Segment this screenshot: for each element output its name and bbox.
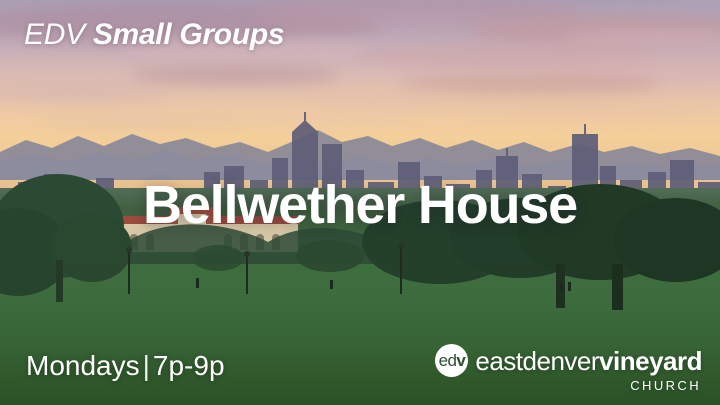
eyebrow-title: EDV Small Groups xyxy=(24,17,284,53)
wordmark-bold-text: vineyard xyxy=(599,346,702,376)
page-title: Bellwether House xyxy=(0,176,720,234)
cloud-band xyxy=(400,74,660,94)
schedule-day: Mondays xyxy=(26,350,140,381)
eyebrow-bold-text: Small Groups xyxy=(93,18,284,51)
badge-light-text: ed xyxy=(439,351,457,370)
cloud-band xyxy=(0,86,170,102)
edv-circle-logo-icon: edv xyxy=(435,344,468,377)
badge-label: edv xyxy=(439,352,466,369)
badge-bold-text: v xyxy=(456,351,465,370)
cloud-band xyxy=(300,92,480,106)
logo-wordmark: eastdenvervineyard xyxy=(475,347,702,375)
logo-subline: CHURCH xyxy=(630,378,701,394)
cloud-band xyxy=(130,66,340,84)
schedule-separator: | xyxy=(140,350,153,381)
church-logo[interactable]: edv eastdenvervineyard CHURCH xyxy=(435,344,702,394)
eyebrow-light-text: EDV xyxy=(24,18,93,51)
wordmark-light-text: eastdenver xyxy=(475,346,599,376)
schedule-text: Mondays|7p-9p xyxy=(26,349,225,383)
logo-primary-row: edv eastdenvervineyard xyxy=(435,344,702,377)
promo-slide: EDV Small Groups Bellwether House Monday… xyxy=(0,0,720,405)
schedule-time: 7p-9p xyxy=(153,350,225,381)
